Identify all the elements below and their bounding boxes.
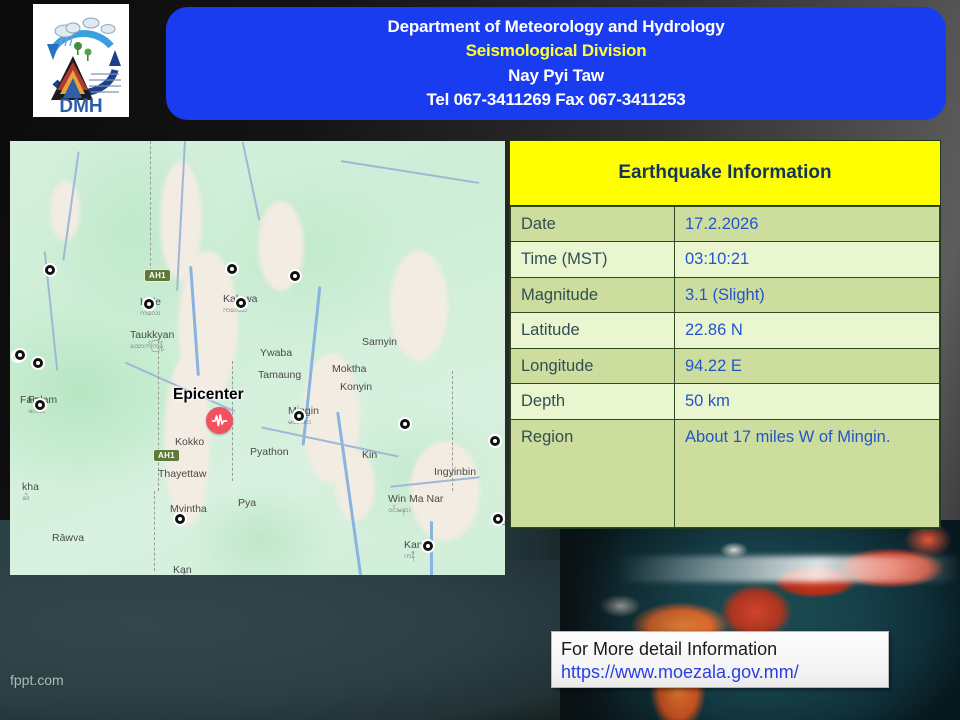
more-info-label: For More detail Information — [561, 638, 879, 661]
map-city-marker-east[interactable] — [488, 434, 502, 448]
row-value-longitude: 94.22 E — [675, 348, 940, 383]
row-label-depth: Depth — [511, 384, 675, 419]
earthquake-info-panel: Earthquake Information Date 17.2.2026 Ti… — [509, 140, 941, 529]
seismograph-wave-icon — [211, 412, 228, 429]
map-lowland — [50, 181, 80, 241]
epicenter-label: Epicenter — [173, 386, 244, 404]
row-value-time: 03:10:21 — [675, 242, 940, 277]
row-value-magnitude: 3.1 (Slight) — [675, 277, 940, 312]
map-place-label: Samyin — [362, 336, 397, 348]
map-place-label: Tamaung — [258, 369, 301, 381]
header-line-city: Nay Pyi Taw — [508, 64, 604, 88]
map-city-marker-kha-2[interactable] — [13, 348, 27, 362]
map-lowland — [335, 451, 375, 521]
map-city-marker-mingin-2[interactable] — [292, 409, 306, 423]
map-lowland — [390, 251, 448, 361]
table-row: Region About 17 miles W of Mingin. — [511, 419, 940, 527]
map-city-marker-falam-2[interactable] — [33, 398, 47, 412]
map-place-label: Taukkyanထောက်ကြန့် — [130, 329, 174, 352]
map-city-marker-kalewa-2[interactable] — [234, 296, 248, 310]
map-place-label: khaခါး — [22, 481, 39, 504]
map-place-label: Win Ma Narဝင်းမနား — [388, 493, 443, 516]
map-place-label: Rāwva — [52, 532, 84, 544]
row-label-latitude: Latitude — [511, 313, 675, 348]
map-place-label: Pya — [238, 497, 256, 509]
header-line-org: Department of Meteorology and Hydrology — [388, 15, 725, 39]
earthquake-info-title: Earthquake Information — [510, 141, 940, 206]
row-label-time: Time (MST) — [511, 242, 675, 277]
row-label-magnitude: Magnitude — [511, 277, 675, 312]
earthquake-info-table: Date 17.2.2026 Time (MST) 03:10:21 Magni… — [510, 206, 940, 528]
table-row: Magnitude 3.1 (Slight) — [511, 277, 940, 312]
map-place-label: Ywaba — [260, 347, 292, 359]
table-row: Date 17.2.2026 — [511, 207, 940, 242]
header-line-division: Seismological Division — [466, 39, 647, 63]
map-city-marker-kale[interactable] — [43, 263, 57, 277]
row-value-region: About 17 miles W of Mingin. — [675, 419, 940, 527]
more-info-box[interactable]: For More detail Information https://www.… — [551, 631, 889, 688]
row-value-depth: 50 km — [675, 384, 940, 419]
map-city-marker-monywa[interactable] — [491, 512, 505, 526]
map-admin-border — [154, 491, 155, 571]
map-city-marker-gangaw[interactable] — [173, 512, 187, 526]
map-road-badge-ah1: AH1 — [153, 449, 180, 462]
map-city-marker-kani[interactable] — [398, 417, 412, 431]
background-teal-glow — [0, 560, 560, 720]
row-label-region: Region — [511, 419, 675, 527]
row-value-latitude: 22.86 N — [675, 313, 940, 348]
table-row: Depth 50 km — [511, 384, 940, 419]
background-image-fade — [560, 520, 960, 720]
dmh-logo-text: DMH — [59, 96, 102, 117]
table-row: Latitude 22.86 N — [511, 313, 940, 348]
epicenter-marker-icon[interactable] — [206, 407, 233, 434]
row-value-date: 17.2.2026 — [675, 207, 940, 242]
background-light-streak — [620, 556, 960, 582]
map-place-label: Ingyinbin — [434, 466, 476, 478]
map-city-marker-kalewa[interactable] — [225, 262, 239, 276]
fppt-watermark: fppt.com — [10, 672, 64, 688]
map-lowland — [410, 441, 480, 541]
map-city-marker-kale-2[interactable] — [142, 297, 156, 311]
map-place-label: Kin — [362, 449, 377, 461]
header-line-contact: Tel 067-3411269 Fax 067-3411253 — [426, 88, 685, 112]
map-admin-border — [150, 141, 151, 271]
epicenter-map[interactable]: Kaleကလေး Kalewaကလေးဝ Taukkyanထောက်ကြန့် … — [10, 141, 505, 575]
map-place-label: Moktha — [332, 363, 366, 375]
row-label-date: Date — [511, 207, 675, 242]
table-row: Time (MST) 03:10:21 — [511, 242, 940, 277]
more-info-url-link[interactable]: https://www.moezala.gov.mm/ — [561, 661, 879, 684]
map-place-label: Pyathon — [250, 446, 289, 458]
dmh-logo-icon: DMH — [33, 4, 129, 117]
row-label-longitude: Longitude — [511, 348, 675, 383]
map-road-badge-ah1: AH1 — [144, 269, 171, 282]
header-banner: Department of Meteorology and Hydrology … — [166, 7, 946, 120]
table-row: Longitude 94.22 E — [511, 348, 940, 383]
map-place-label: Kokko — [175, 436, 204, 448]
map-city-marker-mingin[interactable] — [288, 269, 302, 283]
map-city-marker-yinmarbin[interactable] — [421, 539, 435, 553]
map-city-marker-falam[interactable] — [31, 356, 45, 370]
map-place-label: Thayettaw — [158, 468, 206, 480]
dmh-logo: DMH — [33, 4, 129, 117]
map-place-label: Kan — [173, 564, 192, 575]
map-place-label: Konyin — [340, 381, 372, 393]
